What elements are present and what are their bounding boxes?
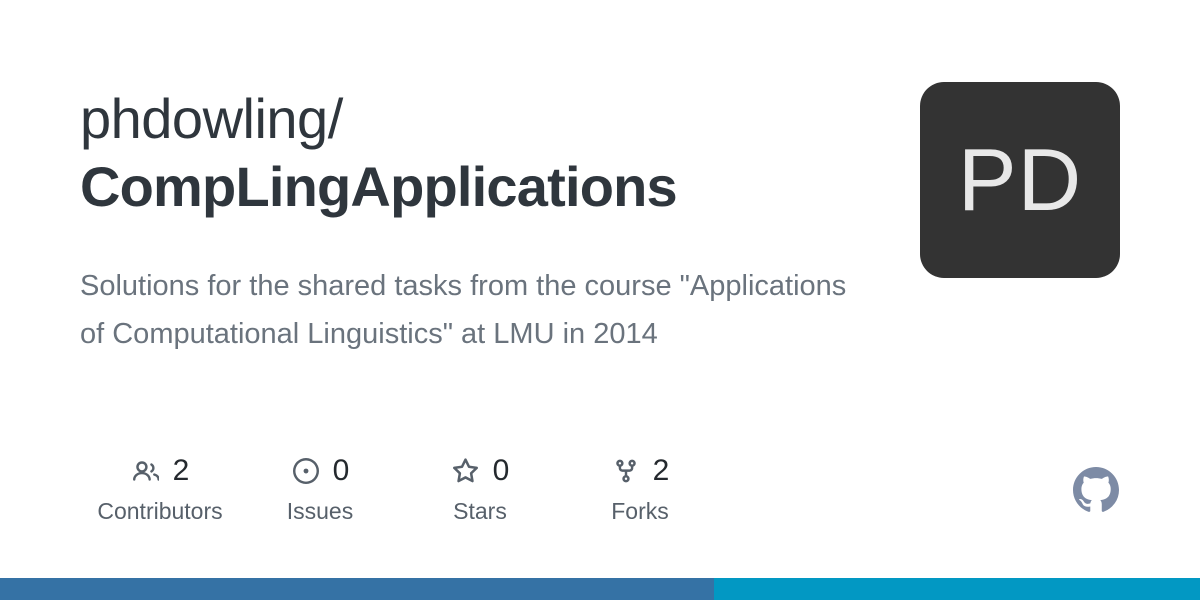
repository-description: Solutions for the shared tasks from the …	[80, 262, 870, 358]
avatar-initials: PD	[958, 136, 1082, 224]
star-icon	[451, 456, 481, 486]
stat-issues: 0 Issues	[240, 452, 400, 523]
stat-issues-count: 0	[333, 456, 350, 486]
stat-issues-label: Issues	[287, 500, 353, 523]
stat-issues-top: 0	[291, 452, 350, 490]
language-bar	[0, 578, 1200, 600]
stat-stars-label: Stars	[453, 500, 507, 523]
issue-opened-icon	[291, 456, 321, 486]
stat-forks: 2 Forks	[560, 452, 720, 523]
stat-stars-top: 0	[451, 452, 510, 490]
stat-forks-top: 2	[611, 452, 670, 490]
stat-contributors: 2 Contributors	[80, 452, 240, 523]
repo-forked-icon	[611, 456, 641, 486]
people-icon	[131, 456, 161, 486]
repository-name: CompLingApplications	[80, 154, 880, 220]
repository-title: phdowling/ CompLingApplications	[80, 86, 880, 220]
language-segment-primary	[0, 578, 714, 600]
repository-preview-card: PD phdowling/ CompLingApplications Solut…	[0, 0, 1200, 600]
owner-name: phdowling/	[80, 86, 880, 152]
stat-stars-count: 0	[493, 456, 510, 486]
language-segment-secondary	[714, 578, 1200, 600]
stat-stars: 0 Stars	[400, 452, 560, 523]
github-mark-icon	[1073, 467, 1119, 513]
owner-avatar: PD	[920, 82, 1120, 278]
repository-stats: 2 Contributors 0 Issues	[80, 452, 720, 523]
stat-forks-label: Forks	[611, 500, 669, 523]
stat-contributors-top: 2	[131, 452, 190, 490]
stat-contributors-label: Contributors	[97, 500, 222, 523]
stat-contributors-count: 2	[173, 456, 190, 486]
stat-forks-count: 2	[653, 456, 670, 486]
